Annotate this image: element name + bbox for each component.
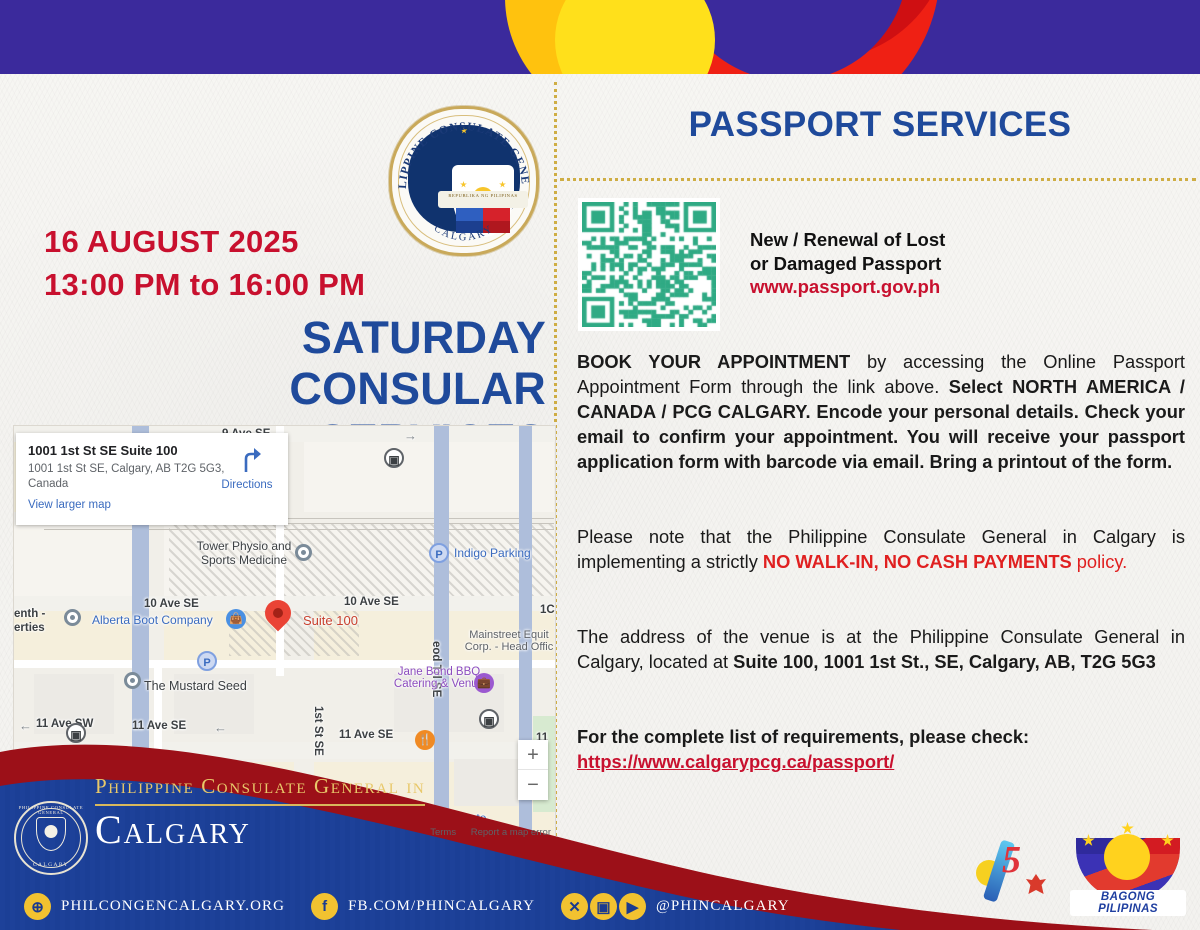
map-badge-parking[interactable]: P <box>197 651 217 671</box>
directions-button[interactable]: Directions <box>218 447 276 491</box>
map-zoom-controls[interactable]: + − <box>518 740 548 800</box>
qr-code[interactable] <box>578 198 720 331</box>
x-twitter-icon[interactable]: ✕ <box>561 893 588 920</box>
map-terms-link[interactable]: Terms <box>430 827 456 838</box>
svg-text:CALGARY: CALGARY <box>432 223 496 243</box>
anniversary-logo: 5 <box>974 834 1052 908</box>
horizontal-dotted-divider <box>560 178 1196 181</box>
map-badge-shop[interactable]: 👜 <box>226 609 246 629</box>
seal-arc-bottom-label: CALGARY <box>432 223 496 243</box>
seal-arc-bottom-text: CALGARY <box>389 106 539 256</box>
map-label-indigo-parking: Indigo Parking <box>454 546 531 560</box>
map-location-pin-icon <box>265 600 291 634</box>
facebook-icon[interactable]: f <box>311 893 338 920</box>
qr-caption-line2: or Damaged Passport <box>750 252 1050 276</box>
bagong-pilipinas-label: BAGONG PILIPINAS <box>1070 890 1186 916</box>
footer-handle[interactable]: @PHINCALGARY <box>656 898 790 915</box>
globe-icon[interactable]: ⊕ <box>24 893 51 920</box>
map-info-card[interactable]: 1001 1st St SE Suite 100 1001 1st St SE,… <box>16 433 288 525</box>
paragraph-venue-address: The address of the venue is at the Phili… <box>577 625 1185 675</box>
footer-band: PHILIPPINE CONSULATE GENERAL CALGARY Phi… <box>0 700 1200 930</box>
p2-red-bold: NO WALK-IN, NO CASH PAYMENTS <box>763 551 1072 572</box>
map-zoom-in-button[interactable]: + <box>518 740 548 770</box>
p2-red-normal: policy. <box>1072 551 1128 572</box>
footer-facebook[interactable]: FB.COM/PHINCALGARY <box>348 898 535 915</box>
instagram-icon[interactable]: ▣ <box>590 893 617 920</box>
passport-website-url: www.passport.gov.ph <box>750 275 1050 299</box>
bagong-pilipinas-logo: BAGONG PILIPINAS <box>1068 820 1188 916</box>
top-banner-decoration <box>0 0 1200 74</box>
consulate-seal: REPUBLIKA NG PILIPINAS PHILIPPINE CONSUL… <box>389 106 539 256</box>
paragraph-no-walkin-policy: Please note that the Philippine Consulat… <box>577 525 1185 575</box>
map-report-link[interactable]: Report a map error <box>471 827 551 838</box>
map-label-tower-physio: Tower Physio and Sports Medicine <box>179 539 309 567</box>
event-time: 13:00 PM to 16:00 PM <box>44 267 365 303</box>
footer-seal-logo: PHILIPPINE CONSULATE GENERAL CALGARY <box>14 801 88 875</box>
footer-website[interactable]: PHILCONGENCALGARY.ORG <box>61 898 285 915</box>
qr-caption-block: New / Renewal of Lost or Damaged Passpor… <box>750 228 1050 299</box>
p1-bold-1: BOOK YOUR APPOINTMENT <box>577 351 850 372</box>
qr-code-canvas <box>582 202 716 327</box>
p3-bold-address: Suite 100, 1001 1st St., SE, Calgary, AB… <box>733 651 1156 672</box>
poster-root: REPUBLIKA NG PILIPINAS PHILIPPINE CONSUL… <box>0 0 1200 930</box>
map-label-10-partial: 1C <box>540 604 555 616</box>
map-poi-pin[interactable] <box>295 544 312 561</box>
qr-caption-line1: New / Renewal of Lost <box>750 228 1050 252</box>
map-label-partial-left-1: enth - <box>14 608 45 620</box>
directions-icon <box>232 447 262 473</box>
map-badge-parking[interactable]: P <box>429 543 449 563</box>
map-label-10ave-left: 10 Ave SE <box>144 598 199 610</box>
map-card-address-line1: 1001 1st St SE, Calgary, AB T2G 5G3, <box>28 463 224 475</box>
map-label-suite-100: Suite 100 <box>303 613 358 628</box>
map-poi-pin[interactable] <box>124 672 141 689</box>
map-badge-transit[interactable]: ▣ <box>384 448 404 468</box>
footer-seal-arc-bottom: CALGARY <box>14 862 88 868</box>
youtube-icon[interactable]: ▶ <box>619 893 646 920</box>
map-label-10ave-right: 10 Ave SE <box>344 596 399 608</box>
map-label-partial-left-2: erties <box>14 622 45 634</box>
map-label-mainstreet: Mainstreet Equit Corp. - Head Offic <box>454 629 556 653</box>
banner-circle-yellow-small <box>555 0 715 74</box>
paragraph-booking-instructions: BOOK YOUR APPOINTMENT by accessing the O… <box>577 350 1185 475</box>
headline-line-1: SATURDAY CONSULAR <box>289 312 546 414</box>
map-label-alberta-boot: Alberta Boot Company <box>92 613 213 627</box>
map-card-address-line2: Canada <box>28 478 68 490</box>
event-date: 16 AUGUST 2025 <box>44 224 299 260</box>
footer-org-line1: Philippine Consulate General in <box>95 774 425 806</box>
footer-organization-name: Philippine Consulate General in Calgary <box>95 774 515 852</box>
map-rail <box>44 529 554 530</box>
directions-label: Directions <box>218 479 276 491</box>
map-block <box>14 526 134 596</box>
section-title-passport-services: PASSPORT SERVICES <box>560 105 1200 145</box>
footer-social-bar: ⊕ PHILCONGENCALGARY.ORG f FB.COM/PHINCAL… <box>24 893 816 920</box>
map-arrow-east: → <box>404 428 417 443</box>
map-zoom-out-button[interactable]: − <box>518 770 548 800</box>
map-poi-pin[interactable] <box>64 609 81 626</box>
map-label-mustard-seed: The Mustard Seed <box>144 679 247 693</box>
footer-seal-arc-top: PHILIPPINE CONSULATE GENERAL <box>14 805 88 815</box>
map-badge-venue[interactable]: 💼 <box>474 673 494 693</box>
view-larger-map-link[interactable]: View larger map <box>28 499 276 511</box>
map-attribution: Terms Report a map error <box>418 827 551 838</box>
